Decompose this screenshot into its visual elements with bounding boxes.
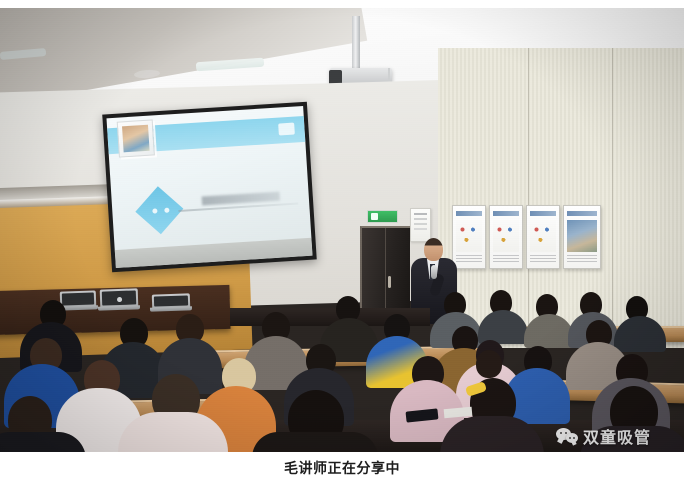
page-root: 双童吸管 毛讲师正在分享中 — [0, 0, 684, 492]
slide-logo-badge — [278, 123, 295, 136]
exit-icon — [371, 213, 378, 220]
wall-poster-4 — [563, 205, 601, 269]
wall-poster-1 — [452, 205, 486, 269]
exit-sign — [367, 210, 398, 223]
audience-body-front — [252, 432, 378, 452]
wechat-icon — [556, 427, 578, 445]
door-seam — [385, 228, 386, 316]
watermark-brand: 双童吸管 — [583, 424, 651, 448]
door-handle — [388, 276, 391, 288]
photo-caption: 毛讲师正在分享中 — [0, 458, 684, 478]
wall-poster-3 — [526, 205, 560, 269]
wall-poster-2 — [489, 205, 523, 269]
slide-diamond-shape — [135, 186, 183, 234]
wall-seam — [612, 48, 613, 348]
slide-thumbnail-image — [117, 119, 155, 157]
apple-logo-icon — [117, 297, 122, 302]
child-head — [476, 350, 502, 378]
projection-screen — [102, 102, 317, 273]
event-photo: 双童吸管 — [0, 8, 684, 452]
projection-screen-surface — [106, 106, 312, 268]
slide-rule-line — [178, 202, 298, 212]
projector-mount — [352, 16, 360, 72]
microphone — [431, 265, 437, 279]
presenter-head — [424, 238, 443, 261]
lecture-hall-door — [360, 226, 410, 316]
watermark: 双童吸管 — [556, 424, 651, 448]
wall-seam — [528, 48, 529, 348]
